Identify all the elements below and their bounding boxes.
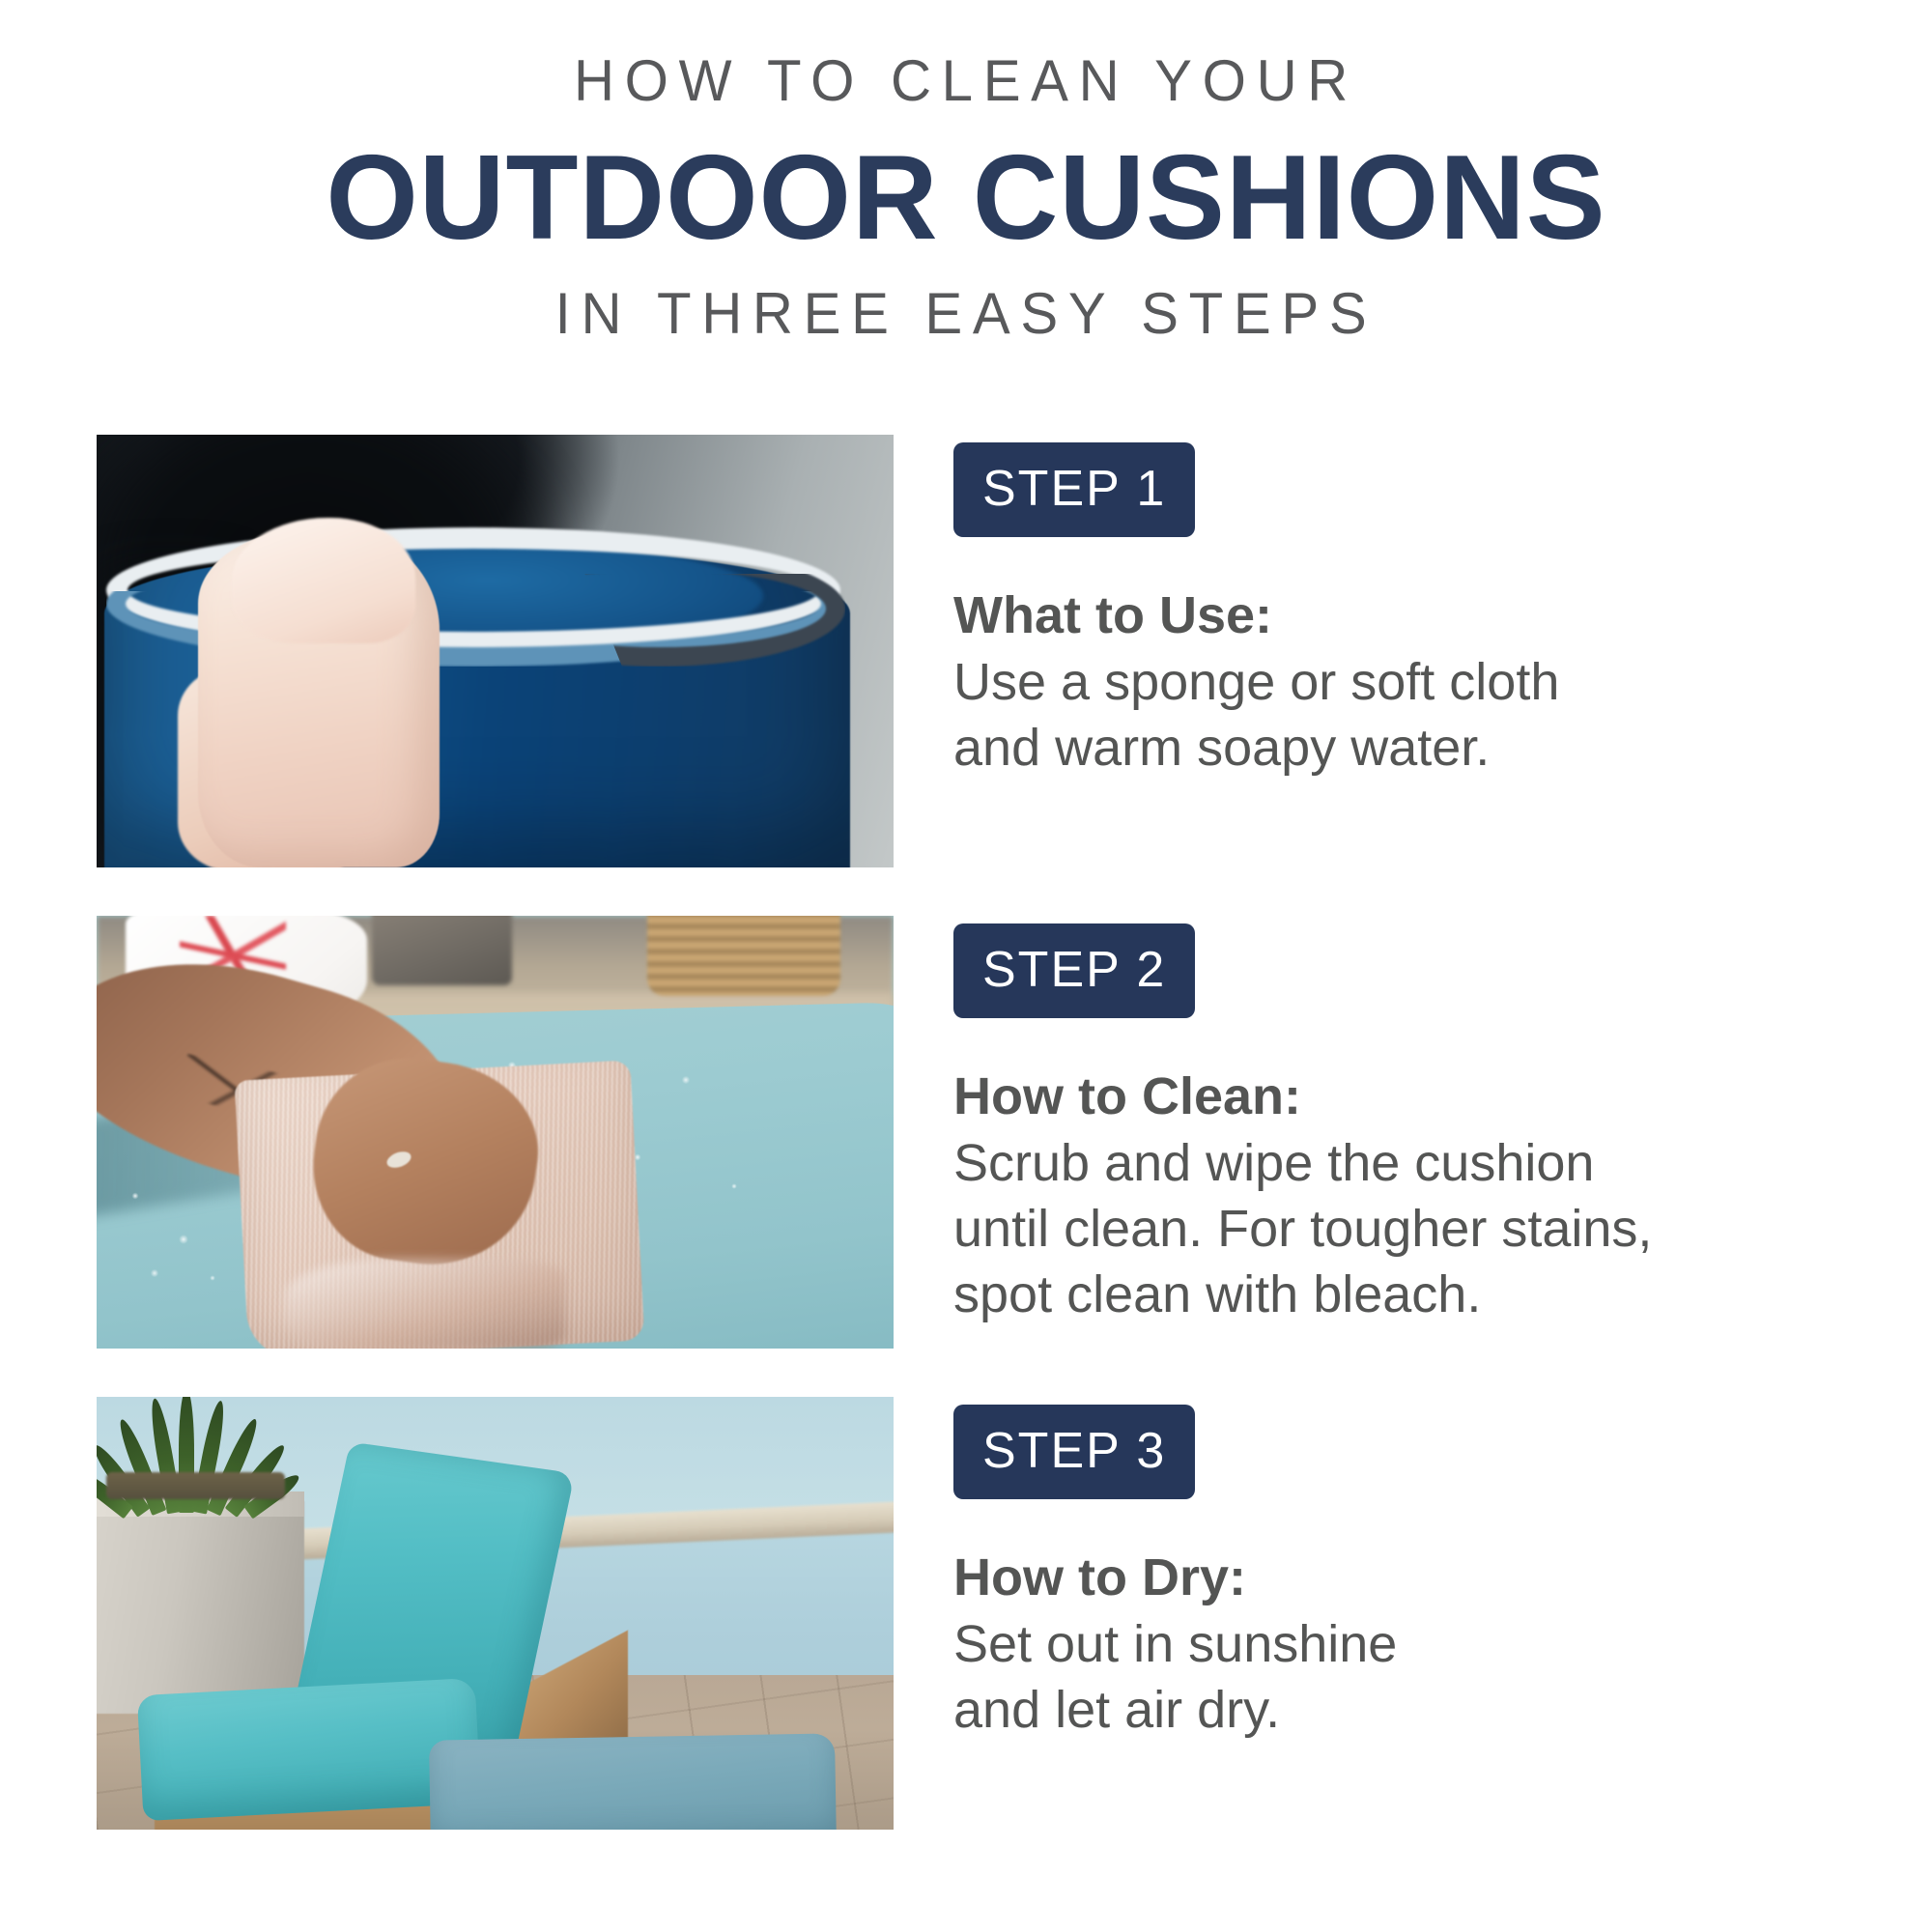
towel-fold — [285, 1259, 565, 1349]
planter-soil — [106, 1472, 285, 1499]
step-row: STEP 2 How to Clean: Scrub and wipe the … — [0, 916, 1932, 1349]
step-photo-lounge — [97, 1397, 894, 1830]
step-badge: STEP 1 — [953, 442, 1195, 537]
step-photo-bucket — [97, 435, 894, 867]
step-badge: STEP 3 — [953, 1405, 1195, 1499]
step-body: Scrub and wipe the cushion until clean. … — [953, 1130, 1932, 1327]
step-text-block: STEP 3 How to Dry: Set out in sunshine a… — [953, 1397, 1932, 1743]
page-title: OUTDOOR CUSHIONS — [10, 137, 1922, 259]
step-heading: How to Clean: — [953, 1066, 1932, 1126]
agave-plant — [101, 1397, 280, 1513]
header: HOW TO CLEAN YOUR OUTDOOR CUSHIONS IN TH… — [0, 0, 1932, 348]
concrete-planter — [97, 1501, 304, 1714]
step-photo-wiping — [97, 916, 894, 1349]
step-body: Use a sponge or soft cloth and warm soap… — [953, 649, 1932, 781]
step-heading: How to Dry: — [953, 1548, 1932, 1607]
step-text-block: STEP 2 How to Clean: Scrub and wipe the … — [953, 916, 1932, 1327]
woven-basket — [647, 916, 840, 996]
steps-list: STEP 1 What to Use: Use a sponge or soft… — [0, 435, 1932, 1878]
step-row: STEP 3 How to Dry: Set out in sunshine a… — [0, 1397, 1932, 1830]
stacked-cushion-blue — [429, 1733, 837, 1830]
step-body: Set out in sunshine and let air dry. — [953, 1611, 1932, 1743]
infographic-root: HOW TO CLEAN YOUR OUTDOOR CUSHIONS IN TH… — [0, 0, 1932, 1932]
step-text-block: STEP 1 What to Use: Use a sponge or soft… — [953, 435, 1932, 781]
hand — [232, 518, 415, 643]
step-heading: What to Use: — [953, 585, 1932, 645]
step-badge: STEP 2 — [953, 923, 1195, 1018]
background-pot — [372, 916, 512, 985]
header-eyebrow: HOW TO CLEAN YOUR — [29, 46, 1903, 116]
header-subtitle: IN THREE EASY STEPS — [29, 280, 1903, 348]
step-row: STEP 1 What to Use: Use a sponge or soft… — [0, 435, 1932, 867]
